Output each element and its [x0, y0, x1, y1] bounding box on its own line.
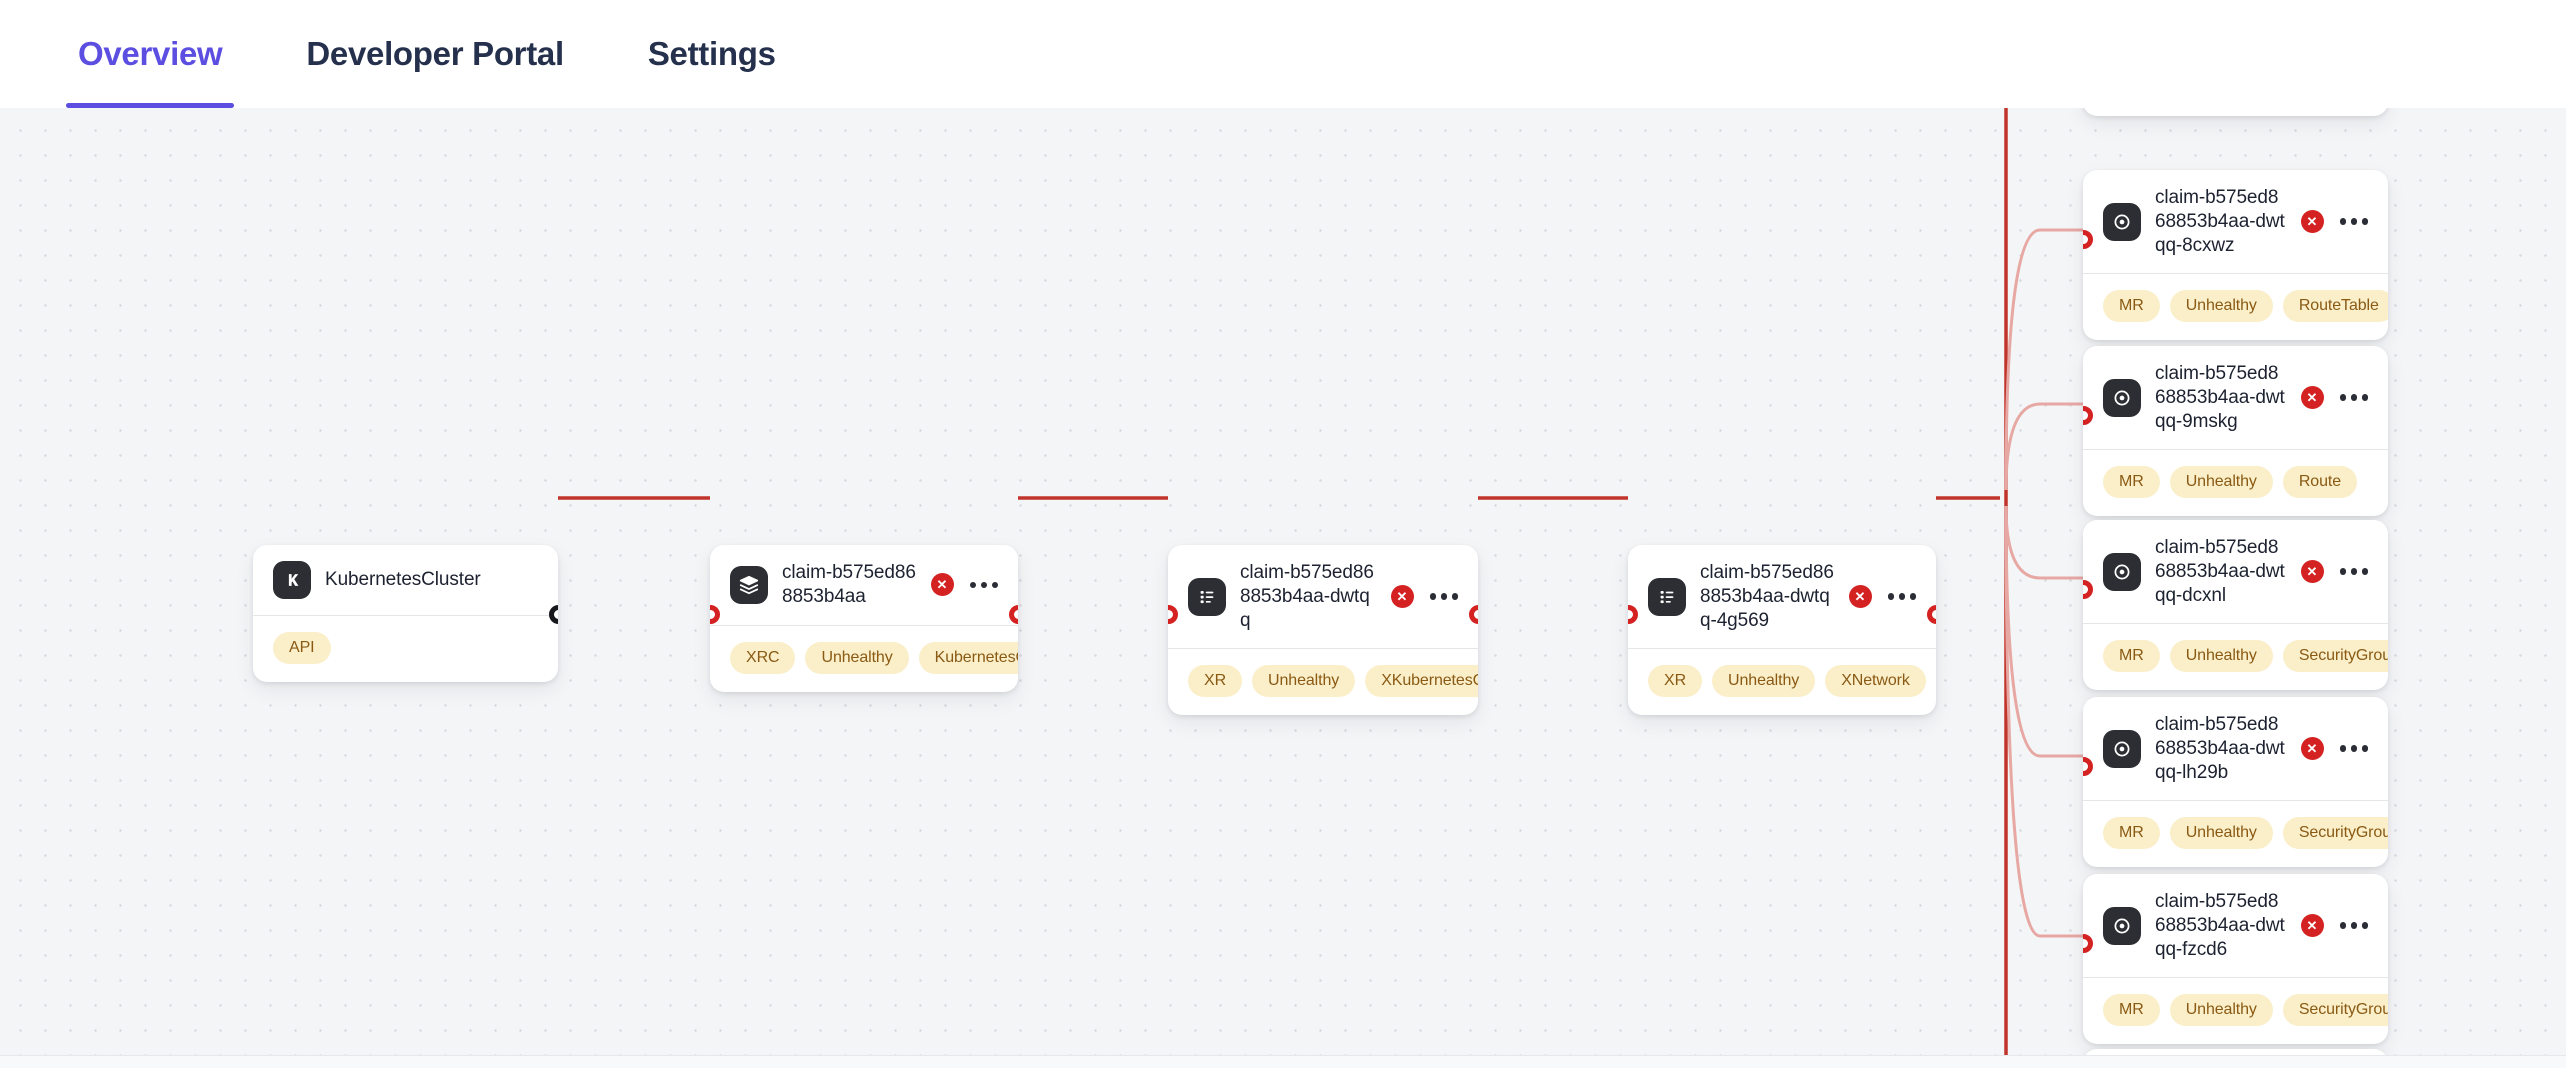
node-header: claim-b575ed868853b4aa-dwtqq-9mskg ✕: [2083, 346, 2388, 449]
list-icon: [1648, 578, 1686, 616]
canvas-footer-strip: [0, 1055, 2566, 1068]
graph-node-partial-top[interactable]: [2083, 108, 2388, 116]
node-tag: KubernetesCluster: [919, 642, 1018, 674]
node-header: claim-b575ed868853b4aa-dwtqq-4g569 ✕: [1628, 545, 1936, 648]
node-tag: Unhealthy: [2170, 466, 2273, 498]
graph-node-kubernetes-cluster[interactable]: KubernetesCluster API: [253, 545, 558, 682]
x-circle-icon[interactable]: ✕: [1391, 585, 1414, 608]
graph-node-claim-dwtqq-4g569[interactable]: claim-b575ed868853b4aa-dwtqq-4g569 ✕ XR …: [1628, 545, 1936, 715]
node-header: claim-b575ed868853b4aa-dwtqq-fzcd6 ✕: [2083, 874, 2388, 977]
tab-developer-portal[interactable]: Developer Portal: [284, 0, 585, 108]
node-tag: XNetwork: [1825, 665, 1926, 697]
node-tag-list: XR Unhealthy XKubernetesCluster: [1168, 649, 1478, 715]
list-icon: [1188, 578, 1226, 616]
node-tag: MR: [2103, 994, 2160, 1026]
kubernetes-k-icon: [273, 561, 311, 599]
x-circle-icon[interactable]: ✕: [1849, 585, 1872, 608]
node-tag: SecurityGroupRule: [2283, 817, 2388, 849]
node-title: claim-b575ed868853b4aa-dwtqq-lh29b: [2155, 713, 2287, 784]
node-title: claim-b575ed868853b4aa-dwtqq-fzcd6: [2155, 890, 2287, 961]
node-tag-list: MR Unhealthy RouteTable: [2083, 274, 2388, 340]
tab-overview-label: Overview: [78, 35, 222, 73]
node-tag: XR: [1648, 665, 1702, 697]
node-tag: SecurityGroupRule: [2283, 640, 2388, 672]
graph-node-mr-9mskg[interactable]: claim-b575ed868853b4aa-dwtqq-9mskg ✕ MR …: [2083, 346, 2388, 516]
node-title: KubernetesCluster: [325, 568, 540, 592]
node-tag: API: [273, 632, 331, 664]
ellipsis-icon[interactable]: [968, 576, 1001, 595]
node-tag: XKubernetesCluster: [1365, 665, 1478, 697]
target-icon: [2103, 203, 2141, 241]
node-header: claim-b575ed868853b4aa-dwtqq-8cxwz ✕: [2083, 170, 2388, 273]
node-tag: MR: [2103, 640, 2160, 672]
node-tag: XRC: [730, 642, 795, 674]
node-tag: MR: [2103, 466, 2160, 498]
node-tag: Unhealthy: [2170, 994, 2273, 1026]
node-tag-list: MR Unhealthy Route: [2083, 450, 2388, 516]
node-tag: RouteTable: [2283, 290, 2388, 322]
node-tag: Unhealthy: [2170, 290, 2273, 322]
layers-icon: [730, 566, 768, 604]
graph-node-partial-bottom[interactable]: [2083, 1049, 2388, 1055]
x-circle-icon[interactable]: ✕: [2301, 737, 2324, 760]
node-title: claim-b575ed868853b4aa-dwtqq: [1240, 561, 1377, 632]
node-tag: Unhealthy: [2170, 640, 2273, 672]
node-tag: Route: [2283, 466, 2357, 498]
node-tag-list: API: [253, 616, 558, 682]
ellipsis-icon[interactable]: [2338, 739, 2371, 758]
x-circle-icon[interactable]: ✕: [931, 573, 954, 596]
tab-developer-portal-label: Developer Portal: [306, 35, 563, 73]
ellipsis-icon[interactable]: [1886, 587, 1919, 606]
node-tag-list: XRC Unhealthy KubernetesCluster: [710, 626, 1018, 692]
ellipsis-icon[interactable]: [2338, 562, 2371, 581]
node-tag-list: XR Unhealthy XNetwork: [1628, 649, 1936, 715]
ellipsis-icon[interactable]: [2338, 212, 2371, 231]
node-header: claim-b575ed868853b4aa-dwtqq ✕: [1168, 545, 1478, 648]
x-circle-icon[interactable]: ✕: [2301, 914, 2324, 937]
node-title: claim-b575ed868853b4aa-dwtqq-4g569: [1700, 561, 1835, 632]
ellipsis-icon[interactable]: [2338, 916, 2371, 935]
node-header: KubernetesCluster: [253, 545, 558, 615]
node-header: claim-b575ed868853b4aa ✕: [710, 545, 1018, 625]
node-tag-list: MR Unhealthy SecurityGroupRule: [2083, 801, 2388, 867]
target-icon: [2103, 730, 2141, 768]
node-header: claim-b575ed868853b4aa-dwtqq-dcxnl ✕: [2083, 520, 2388, 623]
ellipsis-icon[interactable]: [1428, 587, 1461, 606]
graph-node-mr-lh29b[interactable]: claim-b575ed868853b4aa-dwtqq-lh29b ✕ MR …: [2083, 697, 2388, 867]
graph-node-claim-root[interactable]: claim-b575ed868853b4aa ✕ XRC Unhealthy K…: [710, 545, 1018, 692]
node-tag-list: MR Unhealthy SecurityGroup: [2083, 978, 2388, 1044]
resource-graph-canvas[interactable]: KubernetesCluster API claim-b575ed868853…: [0, 108, 2566, 1055]
node-title: claim-b575ed868853b4aa: [782, 561, 917, 609]
x-circle-icon[interactable]: ✕: [2301, 210, 2324, 233]
tab-settings-label: Settings: [648, 35, 776, 73]
node-tag: XR: [1188, 665, 1242, 697]
x-circle-icon[interactable]: ✕: [2301, 386, 2324, 409]
node-title: claim-b575ed868853b4aa-dwtqq-8cxwz: [2155, 186, 2287, 257]
graph-node-claim-dwtqq[interactable]: claim-b575ed868853b4aa-dwtqq ✕ XR Unheal…: [1168, 545, 1478, 715]
node-tag: Unhealthy: [1252, 665, 1355, 697]
target-icon: [2103, 907, 2141, 945]
main-tab-bar: Overview Developer Portal Settings: [0, 0, 2566, 108]
node-header: claim-b575ed868853b4aa-dwtqq-lh29b ✕: [2083, 697, 2388, 800]
node-tag: SecurityGroup: [2283, 994, 2388, 1026]
node-tag-list: MR Unhealthy SecurityGroupRule: [2083, 624, 2388, 690]
x-circle-icon[interactable]: ✕: [2301, 560, 2324, 583]
node-title: claim-b575ed868853b4aa-dwtqq-9mskg: [2155, 362, 2287, 433]
graph-node-mr-fzcd6[interactable]: claim-b575ed868853b4aa-dwtqq-fzcd6 ✕ MR …: [2083, 874, 2388, 1044]
graph-node-mr-8cxwz[interactable]: claim-b575ed868853b4aa-dwtqq-8cxwz ✕ MR …: [2083, 170, 2388, 340]
node-tag: Unhealthy: [2170, 817, 2273, 849]
node-tag: MR: [2103, 290, 2160, 322]
node-title: claim-b575ed868853b4aa-dwtqq-dcxnl: [2155, 536, 2287, 607]
target-icon: [2103, 553, 2141, 591]
node-tag: Unhealthy: [805, 642, 908, 674]
ellipsis-icon[interactable]: [2338, 388, 2371, 407]
node-tag: Unhealthy: [1712, 665, 1815, 697]
graph-node-mr-dcxnl[interactable]: claim-b575ed868853b4aa-dwtqq-dcxnl ✕ MR …: [2083, 520, 2388, 690]
node-tag: MR: [2103, 817, 2160, 849]
target-icon: [2103, 379, 2141, 417]
tab-settings[interactable]: Settings: [626, 0, 798, 108]
tab-overview[interactable]: Overview: [56, 0, 244, 108]
